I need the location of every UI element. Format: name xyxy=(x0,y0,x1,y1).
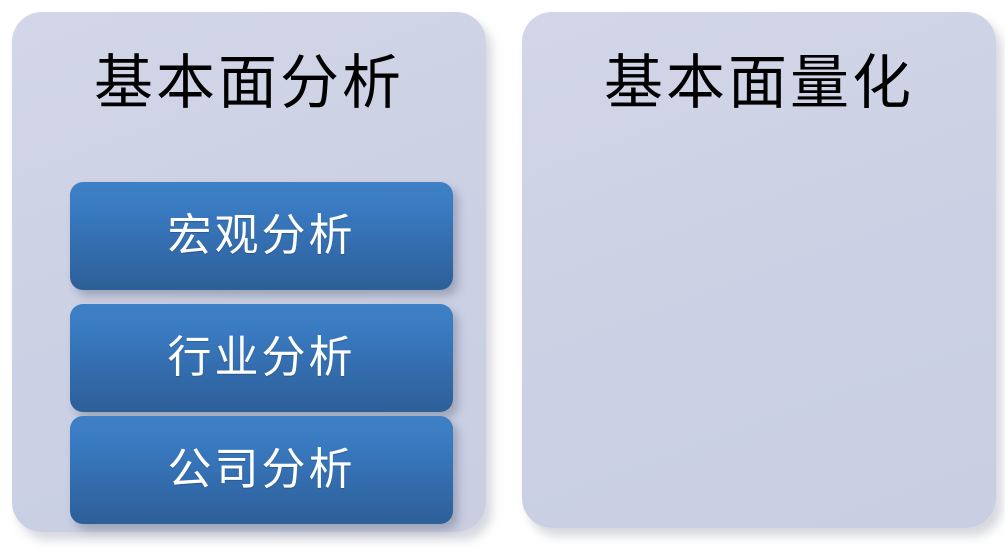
box-industry-analysis[interactable]: 行业分析 xyxy=(70,304,453,412)
box-macro-analysis-label: 宏观分析 xyxy=(168,212,356,260)
panel-fundamental-quant: 基本面量化 基本面因子 Rule-Based 选股策略 xyxy=(522,12,996,528)
box-industry-analysis-label: 行业分析 xyxy=(168,334,356,382)
diagram-canvas: 基本面分析 宏观分析 行业分析 公司分析 基本面量化 基本面因子 Rule-Ba… xyxy=(0,0,1005,555)
panel-fundamental-analysis: 基本面分析 宏观分析 行业分析 公司分析 xyxy=(12,12,486,532)
panel-left-title: 基本面分析 xyxy=(12,54,486,113)
box-company-analysis[interactable]: 公司分析 xyxy=(70,416,453,524)
box-company-analysis-label: 公司分析 xyxy=(168,446,356,494)
box-macro-analysis[interactable]: 宏观分析 xyxy=(70,182,453,290)
panel-right-title: 基本面量化 xyxy=(522,54,996,113)
